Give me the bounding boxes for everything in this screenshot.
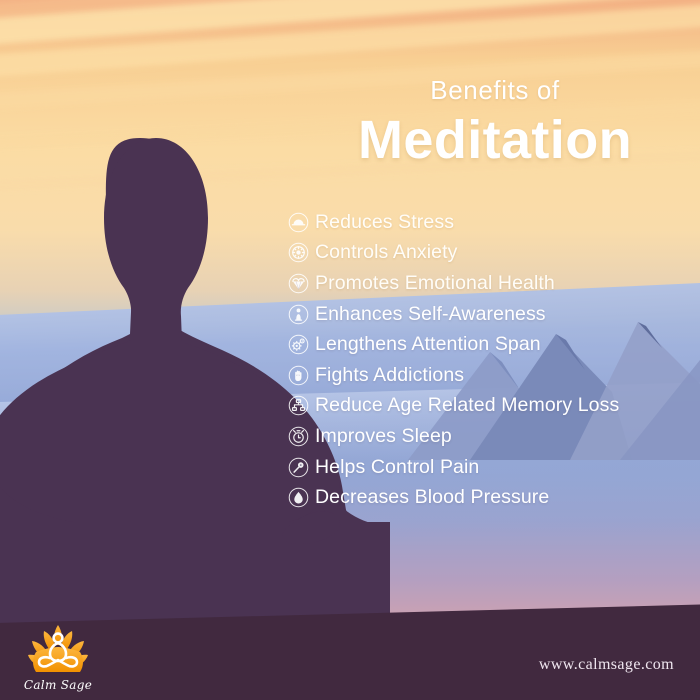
- benefit-item: Reduces Stress: [288, 207, 693, 238]
- brand-logo[interactable]: Calm Sage: [12, 622, 104, 692]
- network-nodes-icon: [288, 395, 309, 416]
- benefit-label: Enhances Self-Awareness: [315, 303, 546, 326]
- headline-block: Benefits of Meditation: [300, 76, 690, 171]
- raised-hand-icon: [288, 365, 309, 386]
- benefit-item: Decreases Blood Pressure: [288, 482, 693, 513]
- benefits-list: Reduces StressControls AnxietyPromotes E…: [288, 207, 693, 513]
- benefit-label: Reduces Stress: [315, 211, 454, 234]
- sunrise-cloud-icon: [288, 212, 309, 233]
- benefit-label: Controls Anxiety: [315, 241, 458, 264]
- benefit-item: Fights Addictions: [288, 360, 693, 391]
- benefit-label: Improves Sleep: [315, 425, 452, 448]
- benefit-label: Fights Addictions: [315, 364, 464, 387]
- blood-drop-icon: [288, 487, 309, 508]
- heart-drop-icon: [288, 273, 309, 294]
- headline-title: Meditation: [300, 109, 690, 171]
- lotus-meditation-logo-icon: [26, 622, 90, 676]
- benefit-item: Lengthens Attention Span: [288, 329, 693, 360]
- pin-pain-icon: [288, 457, 309, 478]
- mandala-flower-icon: [288, 242, 309, 263]
- benefit-item: Reduce Age Related Memory Loss: [288, 391, 693, 422]
- person-circle-icon: [288, 304, 309, 325]
- benefit-label: Lengthens Attention Span: [315, 333, 541, 356]
- benefit-label: Helps Control Pain: [315, 456, 479, 479]
- benefit-item: Promotes Emotional Health: [288, 268, 693, 299]
- benefit-label: Reduce Age Related Memory Loss: [315, 394, 619, 417]
- alarm-clock-icon: [288, 426, 309, 447]
- benefit-item: Helps Control Pain: [288, 452, 693, 483]
- benefit-item: Improves Sleep: [288, 421, 693, 452]
- benefit-label: Promotes Emotional Health: [315, 272, 555, 295]
- benefit-item: Controls Anxiety: [288, 238, 693, 269]
- gears-icon: [288, 334, 309, 355]
- headline-kicker: Benefits of: [300, 76, 690, 105]
- brand-logo-name: Calm Sage: [12, 678, 104, 692]
- benefit-item: Enhances Self-Awareness: [288, 299, 693, 330]
- benefit-label: Decreases Blood Pressure: [315, 486, 549, 509]
- website-url: www.calmsage.com: [539, 656, 674, 674]
- meditation-benefits-poster: Benefits of Meditation Reduces StressCon…: [0, 0, 700, 700]
